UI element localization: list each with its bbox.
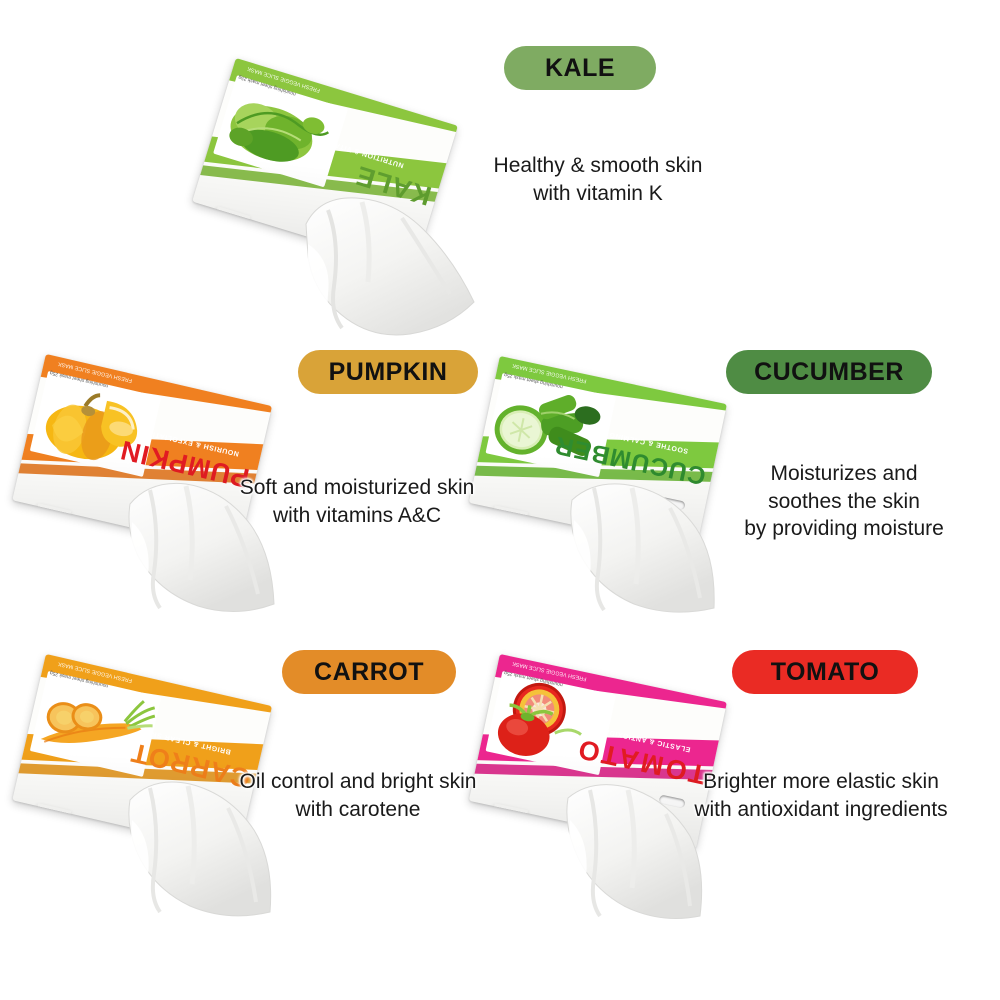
mask-sheet-kale [298,190,508,340]
caption-pumpkin: Soft and moisturized skin with vitamins … [222,474,492,529]
caption-line: soothes the skin [716,488,972,516]
badge-label-pumpkin: PUMPKIN [329,358,448,387]
badge-kale[interactable]: KALE [504,46,656,90]
product-photo-kale: FRESH VEGGIE SLICE MASK nourishing sheet… [222,48,492,323]
caption-line: Brighter more elastic skin [668,768,974,796]
badge-cucumber[interactable]: CUCUMBER [726,350,932,394]
badge-label-tomato: TOMATO [771,658,880,687]
package-notch-carrot [36,803,72,822]
badge-carrot[interactable]: CARROT [282,650,456,694]
caption-line: Healthy & smooth skin [486,152,710,180]
package-notch-tomato [492,803,528,822]
caption-line: Moisturizes and [716,460,972,488]
badge-label-kale: KALE [545,54,615,83]
caption-line: Soft and moisturized skin [222,474,492,502]
caption-line: with carotene [222,796,494,824]
infographic-canvas: FRESH VEGGIE SLICE MASK nourishing sheet… [0,0,1000,1000]
package-notch-kale [214,206,250,227]
badge-pumpkin[interactable]: PUMPKIN [298,350,478,394]
badge-label-carrot: CARROT [314,658,424,687]
caption-tomato: Brighter more elastic skin with antioxid… [668,768,974,823]
caption-line: Oil control and bright skin [222,768,494,796]
badge-tomato[interactable]: TOMATO [732,650,918,694]
caption-line: with vitamins A&C [222,502,492,530]
package-notch-cucumber [492,505,528,524]
caption-carrot: Oil control and bright skin with caroten… [222,768,494,823]
caption-line: with antioxidant ingredients [668,796,974,824]
package-notch-pumpkin [36,503,72,522]
caption-line: with vitamin K [486,180,710,208]
caption-cucumber: Moisturizes and soothes the skin by prov… [716,460,972,543]
caption-kale: Healthy & smooth skin with vitamin K [486,152,710,207]
caption-line: by providing moisture [716,515,972,543]
badge-label-cucumber: CUCUMBER [754,358,904,387]
